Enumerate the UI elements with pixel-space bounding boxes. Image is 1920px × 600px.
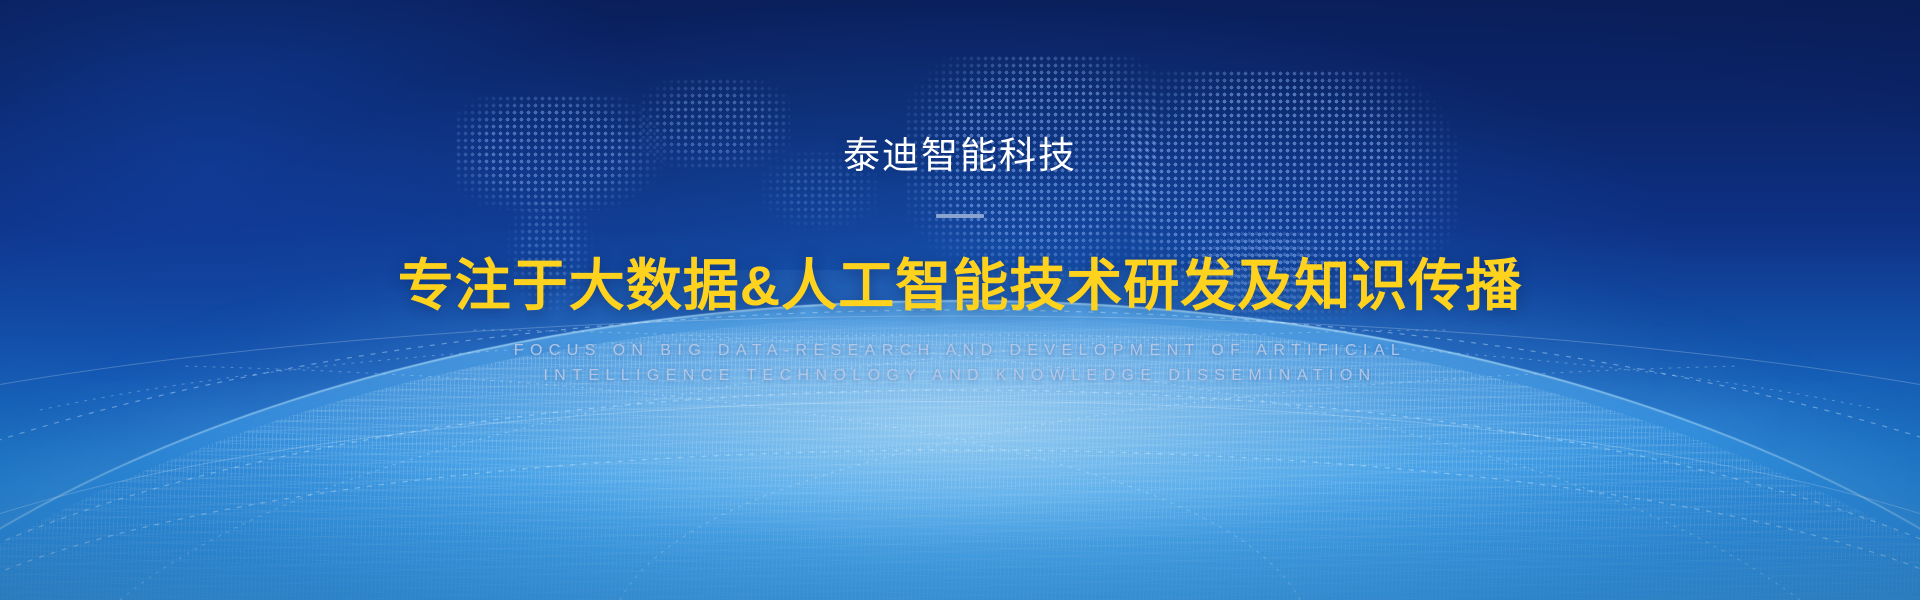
title-divider [936, 214, 984, 218]
subtitle-line-1: FOCUS ON BIG DATA-RESEARCH AND DEVELOPME… [514, 338, 1406, 363]
banner-content: 泰迪智能科技 专注于大数据&人工智能技术研发及知识传播 FOCUS ON BIG… [0, 0, 1920, 600]
subtitle-line-2: INTELLIGENCE TECHNOLOGY AND KNOWLEDGE DI… [514, 363, 1406, 388]
hero-banner: 泰迪智能科技 专注于大数据&人工智能技术研发及知识传播 FOCUS ON BIG… [0, 0, 1920, 600]
subtitle-english: FOCUS ON BIG DATA-RESEARCH AND DEVELOPME… [514, 338, 1406, 388]
brand-title: 泰迪智能科技 [843, 137, 1077, 174]
headline-slogan: 专注于大数据&人工智能技术研发及知识传播 [398, 256, 1522, 316]
